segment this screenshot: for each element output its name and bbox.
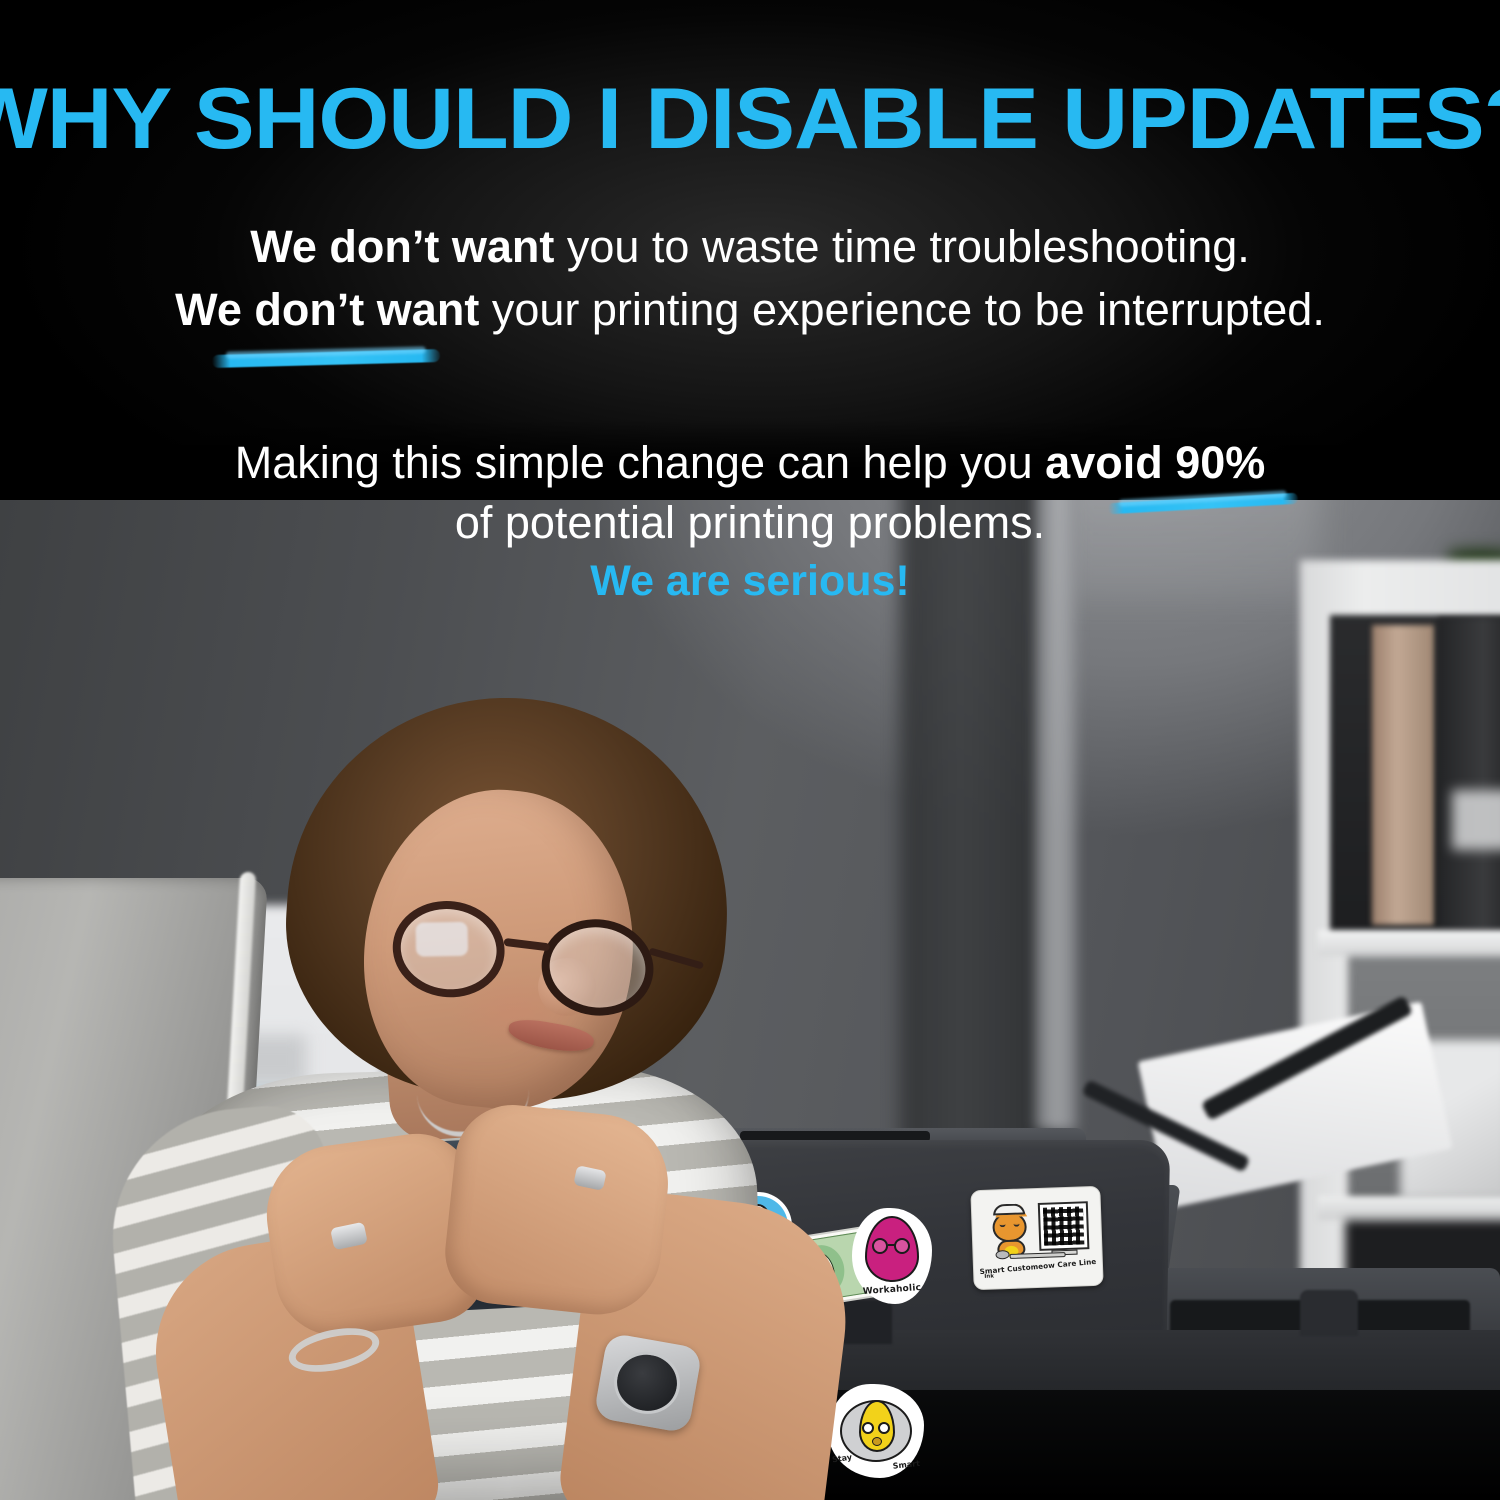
body-line-2-rest: your printing experience to be interrupt…: [479, 284, 1325, 335]
body-line-2: We don’t want your printing experience t…: [0, 285, 1500, 335]
glasses-bridge: [503, 938, 550, 952]
watch-face: [609, 1347, 685, 1420]
shelf-board-upper: [1318, 930, 1500, 956]
printer-knob-right: [1300, 1290, 1358, 1336]
sticker-smart-customeow-care-line: Smart Customeow Care Line Ink: [970, 1186, 1103, 1290]
body-line-4: of potential printing problems.: [0, 498, 1500, 548]
body-line-1-emphasis: We don’t want: [250, 221, 554, 272]
sticker-care-line-sublabel: Ink: [984, 1273, 1014, 1280]
promotional-poster: 100 Workaholic: [0, 0, 1500, 1500]
binder-black: [1438, 618, 1500, 930]
hand-right: [440, 1099, 675, 1320]
binder-tan: [1372, 625, 1434, 925]
page-title: WHY SHOULD I DISABLE UPDATES?: [0, 70, 1500, 169]
tagline: We are serious!: [0, 558, 1500, 605]
body-line-1-rest: you to waste time troubleshooting.: [554, 221, 1249, 272]
lens-left: [387, 895, 510, 1004]
body-line-1: We don’t want you to waste time troubles…: [0, 222, 1500, 272]
shelf-board-lower: [1318, 1196, 1500, 1220]
woman-subject: [120, 640, 880, 1500]
body-line-3-rest: Making this simple change can help you: [235, 437, 1045, 488]
binder-label: [1452, 790, 1500, 850]
lens-right: [536, 913, 659, 1022]
body-line-2-emphasis: We don’t want: [175, 284, 479, 335]
lens-glare: [416, 922, 469, 957]
body-line-3: Making this simple change can help you a…: [0, 438, 1500, 488]
body-line-3-emphasis: avoid 90%: [1045, 437, 1265, 488]
wristwatch: [593, 1332, 702, 1433]
